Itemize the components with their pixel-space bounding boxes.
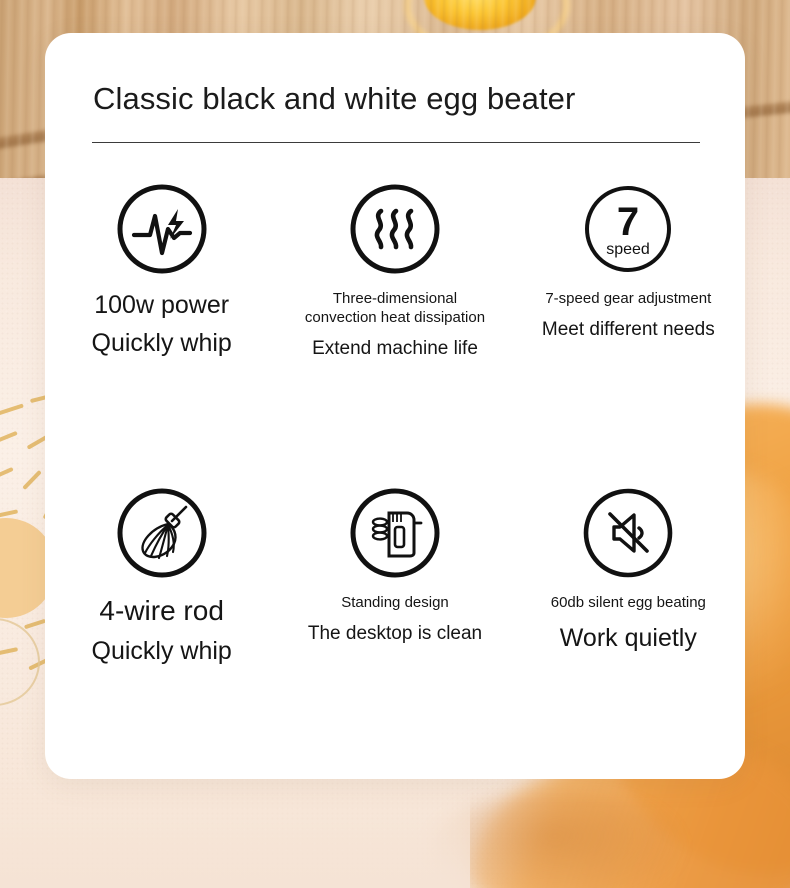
feature-headline: Three-dimensional convection heat dissip… [305, 289, 485, 327]
mute-speaker-icon [582, 487, 674, 579]
whisk-icon [116, 487, 208, 579]
feature-headline: 100w power [94, 289, 229, 321]
feature-headline: 4-wire rod [99, 593, 223, 629]
feature-subline: The desktop is clean [308, 622, 482, 646]
feature-item-standing: Standing design The desktop is clean [278, 487, 511, 667]
heat-waves-icon [349, 183, 441, 275]
feature-grid: 100w power Quickly whip Three-dimensiona… [45, 183, 745, 667]
title-divider [92, 142, 700, 143]
feature-item-silent: 60db silent egg beating Work quietly [512, 487, 745, 667]
power-pulse-icon [116, 183, 208, 275]
product-feature-infographic: Classic black and white egg beater 100w … [0, 0, 790, 888]
feature-subline: Work quietly [560, 622, 697, 654]
feature-item-speed: 7 speed 7-speed gear adjustment Meet dif… [512, 183, 745, 362]
feature-subline: Meet different needs [542, 318, 715, 342]
egg-yolk [424, 0, 536, 30]
feature-item-heat: Three-dimensional convection heat dissip… [278, 183, 511, 362]
standing-mixer-icon [349, 487, 441, 579]
background-bottom-fade [0, 760, 470, 888]
feature-row-1: 100w power Quickly whip Three-dimensiona… [45, 183, 745, 362]
feature-subline: Quickly whip [92, 635, 232, 667]
feature-row-2: 4-wire rod Quickly whip [45, 487, 745, 667]
speed-label: speed [607, 241, 651, 258]
speed-number: 7 [617, 200, 639, 244]
page-title: Classic black and white egg beater [93, 81, 575, 117]
feature-item-whisk: 4-wire rod Quickly whip [45, 487, 278, 667]
feature-headline: Standing design [341, 593, 449, 612]
feature-subline: Quickly whip [92, 327, 232, 359]
feature-item-power: 100w power Quickly whip [45, 183, 278, 362]
feature-subline: Extend machine life [312, 337, 478, 361]
feature-card: Classic black and white egg beater 100w … [45, 33, 745, 779]
feature-headline: 60db silent egg beating [551, 593, 706, 612]
seven-speed-icon: 7 speed [582, 183, 674, 275]
feature-headline: 7-speed gear adjustment [545, 289, 711, 308]
